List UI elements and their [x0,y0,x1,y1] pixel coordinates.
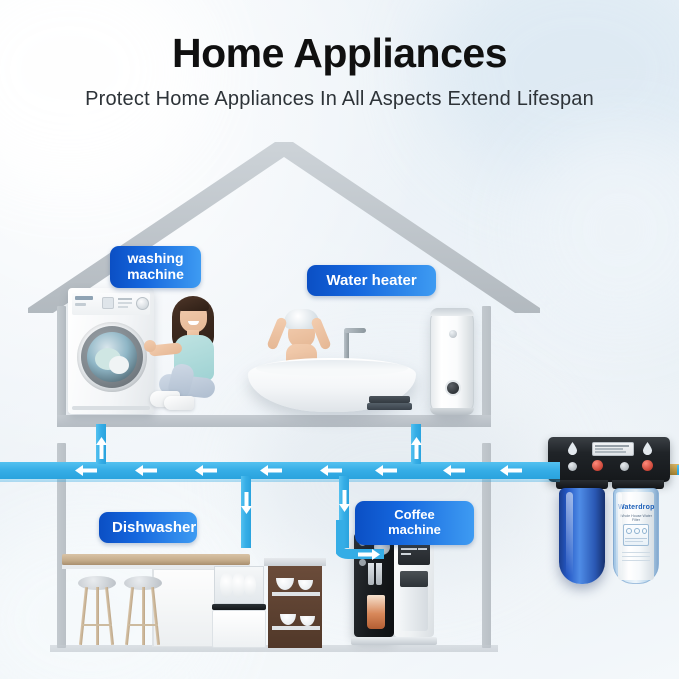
bathtub-scene [248,296,438,418]
coffee-arrow-right [358,548,380,561]
pipe-arrow-6 [375,464,397,477]
filter-valve-2[interactable] [620,462,629,471]
badge-coffee-machine[interactable]: Coffee machine [355,501,474,545]
badge-water-heater[interactable]: Water heater [307,265,436,296]
riser-arrow-up-1 [95,437,108,459]
house-wall-right-upper [482,306,491,423]
pipe-arrow-2 [135,464,157,477]
drop-arrow-down-1 [240,492,253,514]
main-water-pipe-shadow [0,479,560,482]
filter-indicator-red-1 [592,460,603,471]
filter-indicator-red-2 [642,460,653,471]
page-subtitle: Protect Home Appliances In All Aspects E… [0,88,679,111]
filter-cartridge-brand: Waterdrop [618,504,654,511]
water-heater-tank [430,308,474,415]
washing-machine [68,288,154,414]
water-drop-icon-right [643,442,652,455]
filter-cartridge-subtitle: Whole House Water Filter [618,514,654,522]
badge-washing-machine[interactable]: washing machine [110,246,201,288]
drop-arrow-down-2 [338,490,351,512]
woman-sitting [146,292,242,416]
pipe-arrow-4 [260,464,282,477]
coffee-glass [367,595,385,629]
infographic-canvas: Home Appliances Protect Home Appliances … [0,0,679,679]
counter-top [62,554,250,565]
dishwasher-door [212,610,266,648]
filter-cartridge: Waterdrop Whole House Water Filter [618,492,654,580]
pipe-arrow-5 [320,464,342,477]
page-title: Home Appliances [0,30,679,77]
badge-dishwasher[interactable]: Dishwasher [99,512,197,543]
filter-valve-1[interactable] [568,462,577,471]
pipe-arrow-3 [195,464,217,477]
house-wall-left-upper [57,306,66,423]
kitchen-shelf-unit [268,558,322,648]
pipe-arrow-1 [75,464,97,477]
whole-house-water-filter: Waterdrop Whole House Water Filter [548,437,673,605]
pipe-arrow-8 [500,464,522,477]
bg-blob-3 [520,130,679,330]
riser-arrow-up-2 [410,437,423,459]
pipe-arrow-7 [443,464,465,477]
dishwasher [212,566,266,648]
water-drop-icon-left [568,442,577,455]
